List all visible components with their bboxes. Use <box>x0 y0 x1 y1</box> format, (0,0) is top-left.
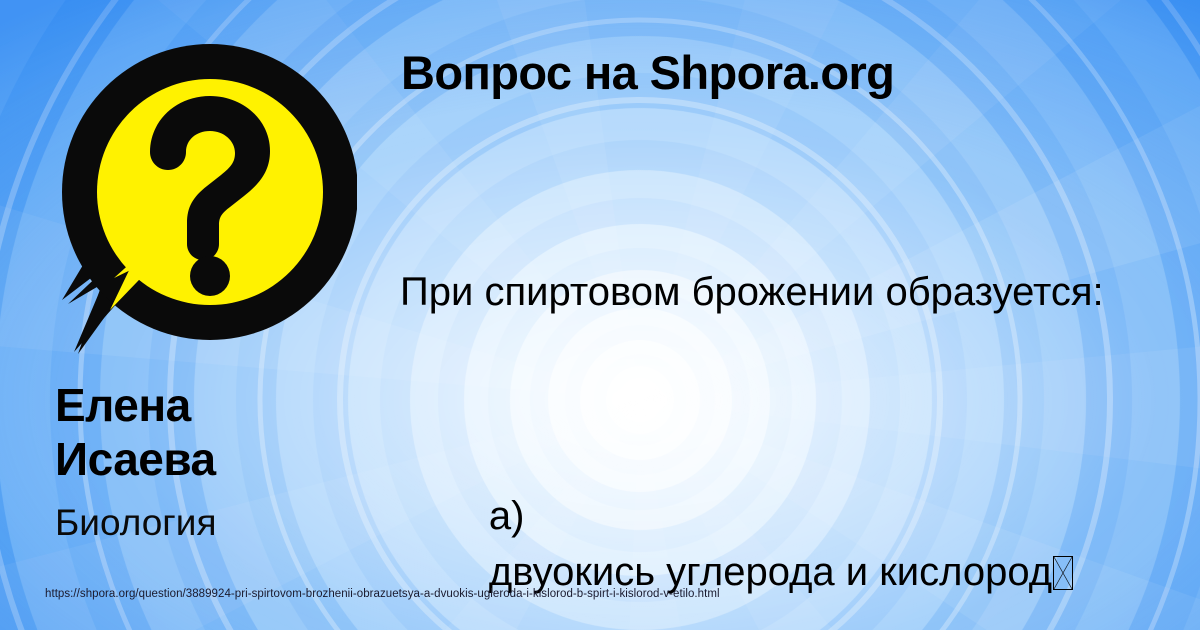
author-subject: Биология <box>55 503 385 544</box>
share-card-root: Елена Исаева Биология Вопрос на Shpora.o… <box>0 0 1200 630</box>
question-panel: Вопрос на Shpora.org При спиртовом броже… <box>398 0 1200 630</box>
author-name-line-2: Исаева <box>55 432 385 486</box>
missing-glyph-box-icon <box>1053 556 1073 590</box>
question-speech-bubble-icon <box>52 42 357 354</box>
author-panel: Елена Исаева Биология <box>0 0 392 630</box>
question-option: а) двуокись углерода и кислород <box>400 432 1190 630</box>
question-body: При спиртовом брожении образуется: а) дв… <box>400 152 1190 630</box>
question-mark-bubble-svg <box>52 42 357 354</box>
page-title: Вопрос на Shpora.org <box>401 45 894 100</box>
author-name-line-1: Елена <box>55 378 385 432</box>
question-prompt: При спиртовом брожении образуется: <box>400 264 1190 320</box>
author-name: Елена Исаева <box>55 378 385 487</box>
source-url[interactable]: https://shpora.org/question/3889924-pri-… <box>45 588 720 600</box>
option-letter: а) <box>489 494 525 538</box>
